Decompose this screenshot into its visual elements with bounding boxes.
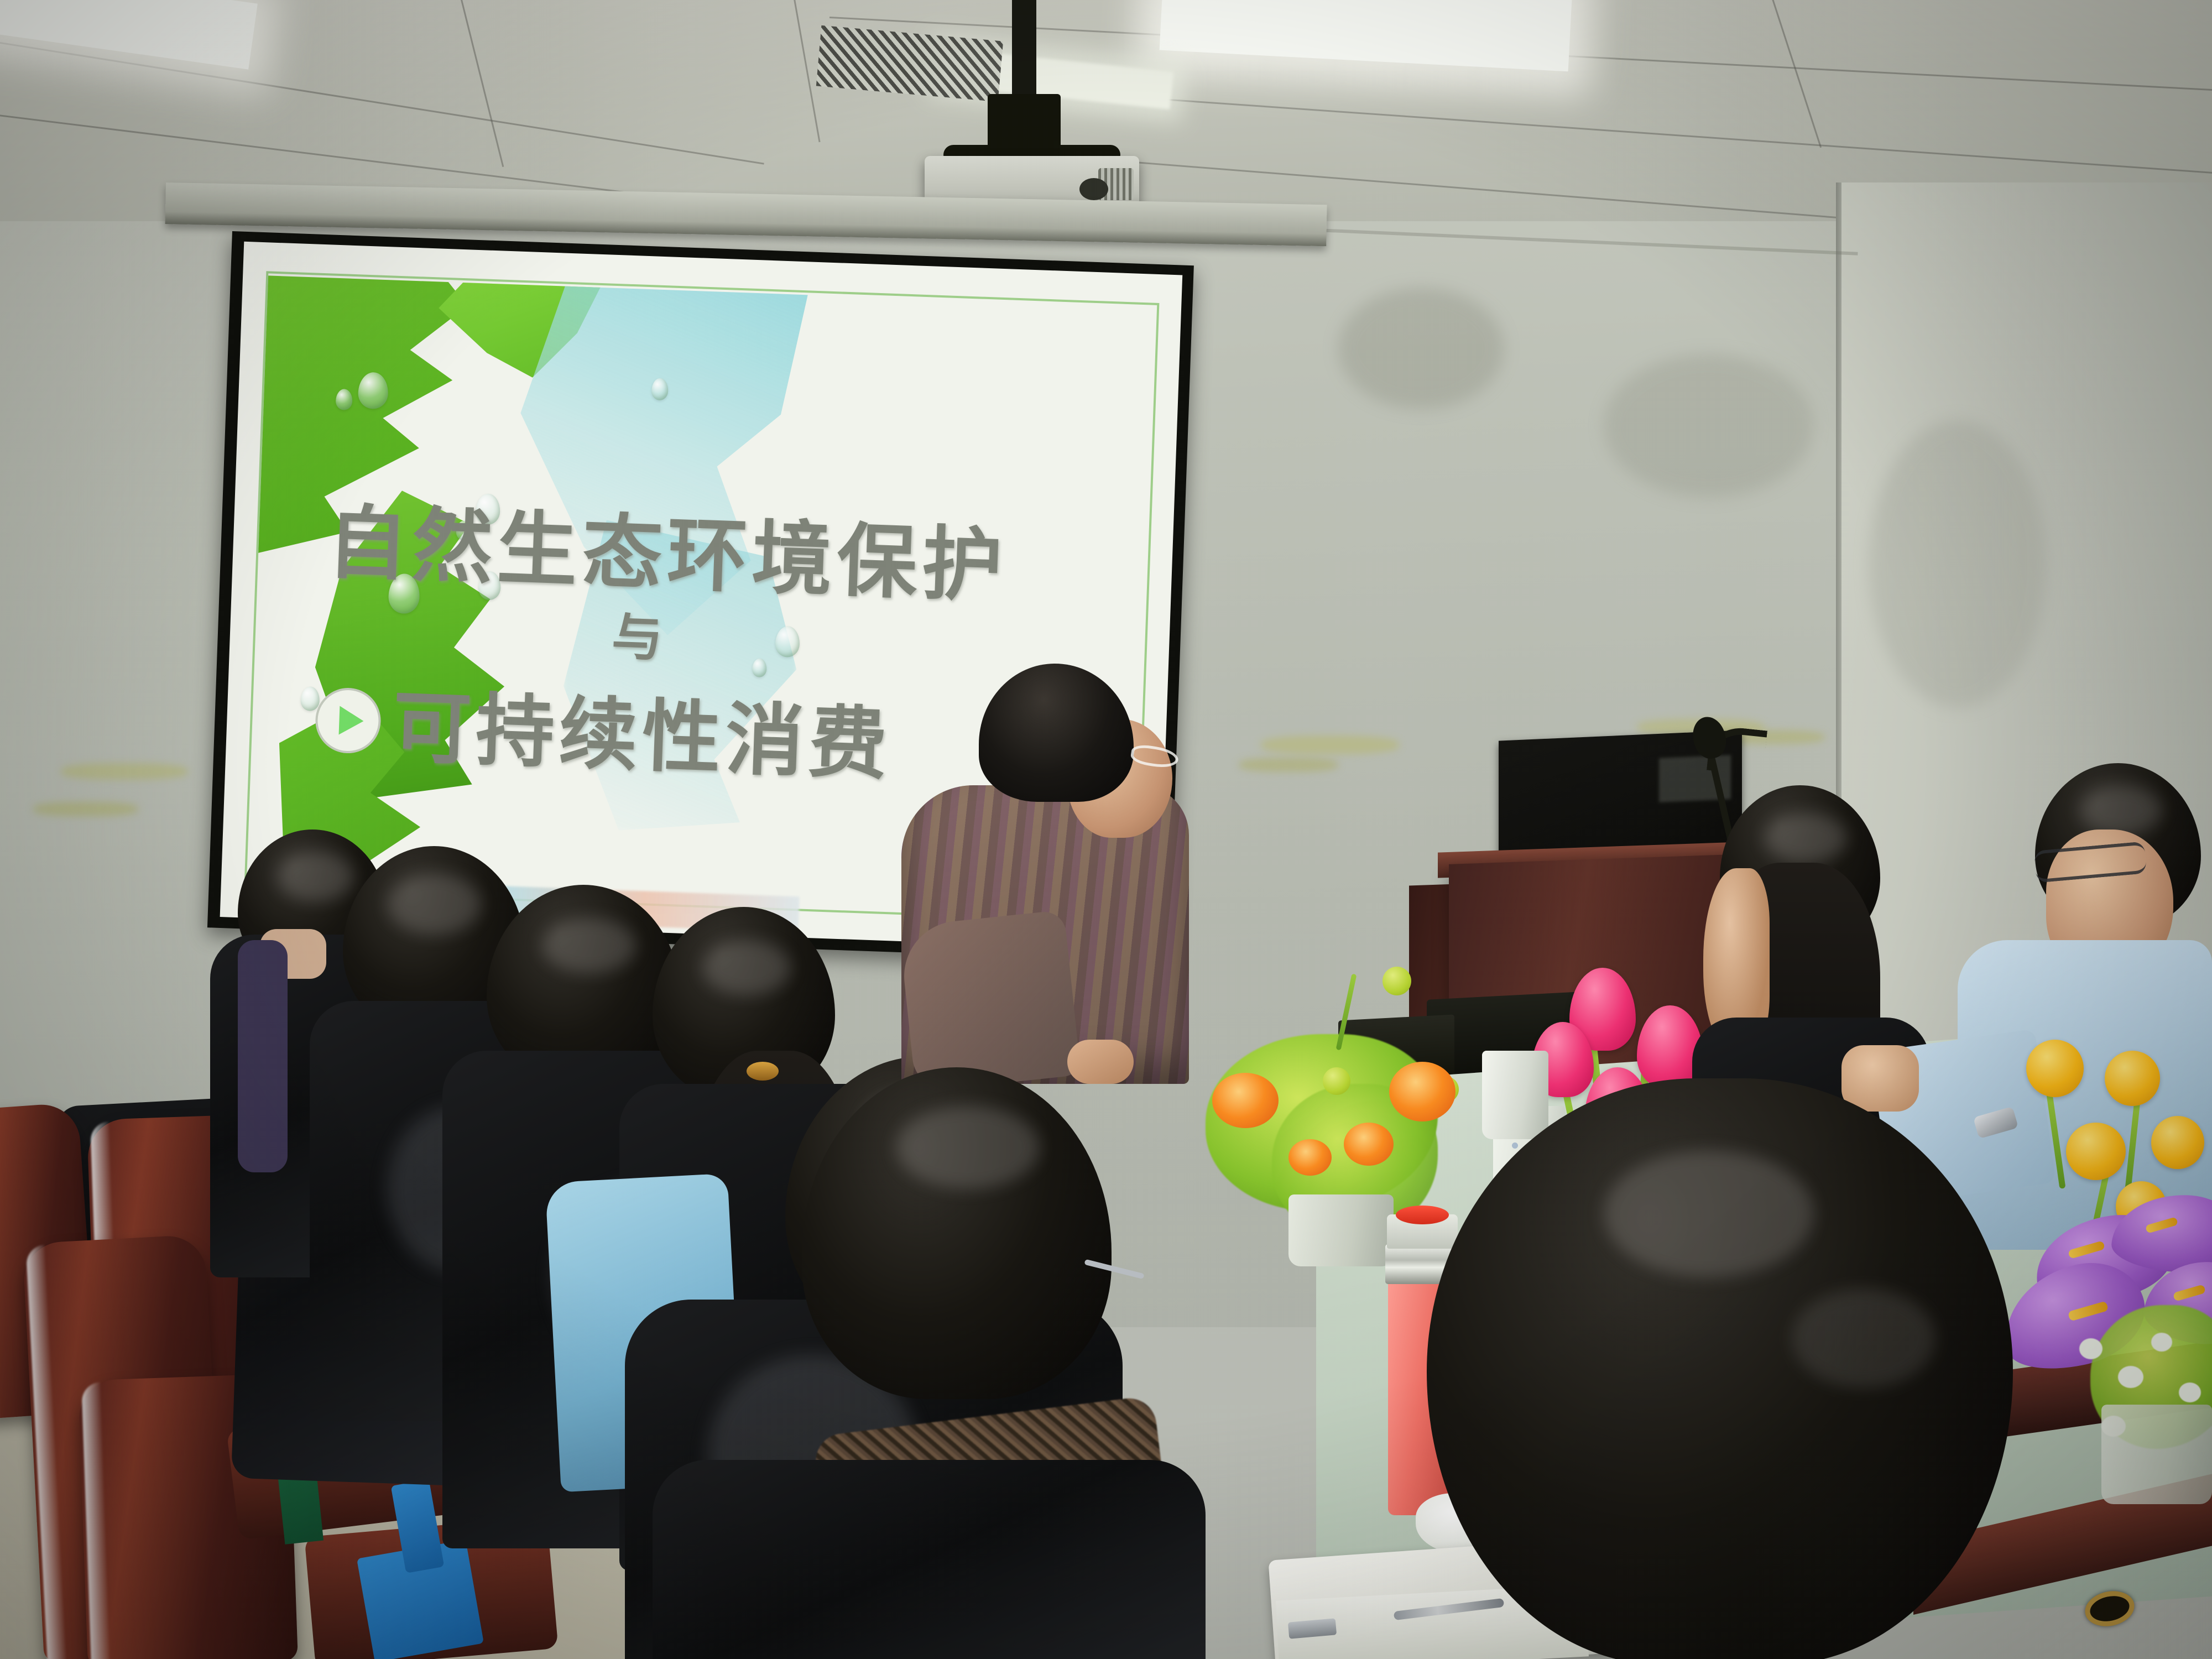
yellow-ball-flower-3 — [2066, 1123, 2126, 1180]
photo-scene: 自然生态环境保护 与 可持续性消费 — [0, 0, 2212, 1659]
flower-vase-right — [2101, 1405, 2212, 1504]
wall-scuff-a — [1338, 288, 1504, 409]
wall-stain-a — [1261, 735, 1399, 754]
wall-stain-b — [1239, 758, 1338, 772]
hair-tie — [747, 1062, 779, 1081]
ceiling-light-panel-left — [0, 0, 258, 70]
orange-rose-2 — [1389, 1062, 1455, 1121]
orange-rose-1 — [1212, 1073, 1279, 1128]
flower-vase-center — [1288, 1194, 1394, 1266]
wall-stain-f — [61, 763, 188, 780]
orange-rose-3 — [1344, 1123, 1394, 1166]
projector-mount-pole — [1012, 0, 1036, 100]
orange-rose-4 — [1288, 1139, 1332, 1176]
projector-lens — [1079, 178, 1108, 200]
yellow-ball-flower-4 — [2151, 1116, 2204, 1169]
wall-scuff-b — [1604, 354, 1814, 498]
slide-title-line-1: 自然生态环境保护 — [326, 477, 1009, 618]
projector-mount-bracket — [988, 94, 1061, 149]
yellow-ball-flower-1 — [2026, 1040, 2084, 1097]
presenter-arm — [899, 910, 1081, 1092]
wall-scuff-c — [1869, 420, 2046, 708]
wall-stain-g — [33, 802, 138, 816]
presenter-hand — [1067, 1040, 1134, 1084]
cup-secondary — [1482, 1051, 1548, 1139]
ceiling-light-panel-center — [1160, 0, 1573, 71]
green-ball-flower-3 — [1323, 1067, 1350, 1095]
slide-title-line-3: 可持续性消费 — [391, 663, 894, 795]
water-droplet-7 — [300, 686, 320, 711]
thermos-red-cap — [1396, 1206, 1449, 1224]
green-ball-flower-1 — [1383, 967, 1411, 995]
yellow-ball-flower-2 — [2105, 1051, 2160, 1106]
slide-title-line-2: 与 — [611, 596, 667, 671]
ceiling-vent-grille — [816, 25, 1003, 102]
